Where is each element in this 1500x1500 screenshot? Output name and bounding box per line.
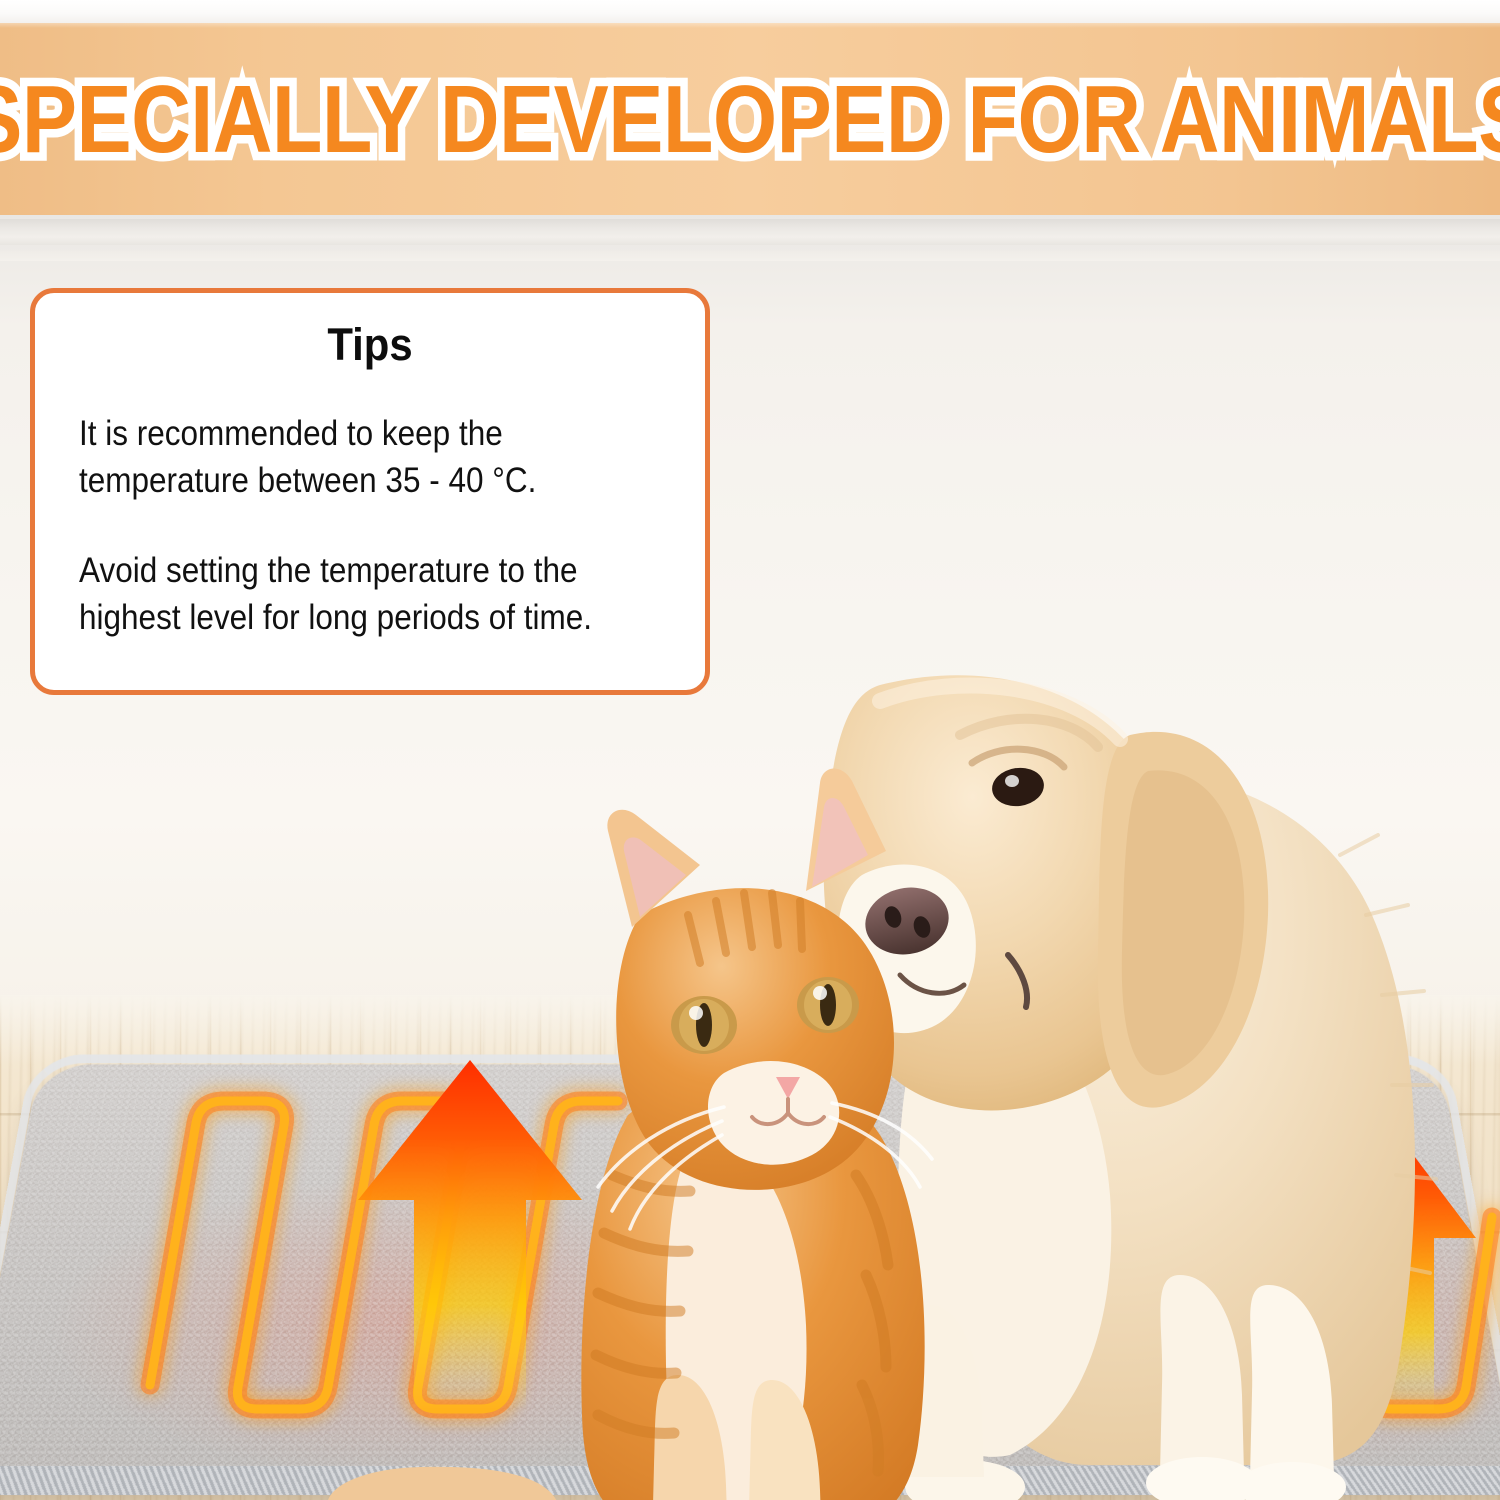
tips-card-title: Tips — [58, 319, 681, 371]
tips-card-body: It is recommended to keep the temperatur… — [79, 411, 619, 641]
headline-text: SPECIALLY DEVELOPED FOR ANIMALS — [0, 2, 1500, 236]
headline-banner: SPECIALLY DEVELOPED FOR ANIMALS — [0, 23, 1500, 215]
product-feature-image: SPECIALLY DEVELOPED FOR ANIMALS Tips It … — [0, 0, 1500, 1500]
tips-paragraph-2: Avoid setting the temperature to the hig… — [79, 548, 619, 641]
tips-paragraph-1: It is recommended to keep the temperatur… — [79, 411, 619, 504]
tips-card: Tips It is recommended to keep the tempe… — [30, 288, 710, 695]
